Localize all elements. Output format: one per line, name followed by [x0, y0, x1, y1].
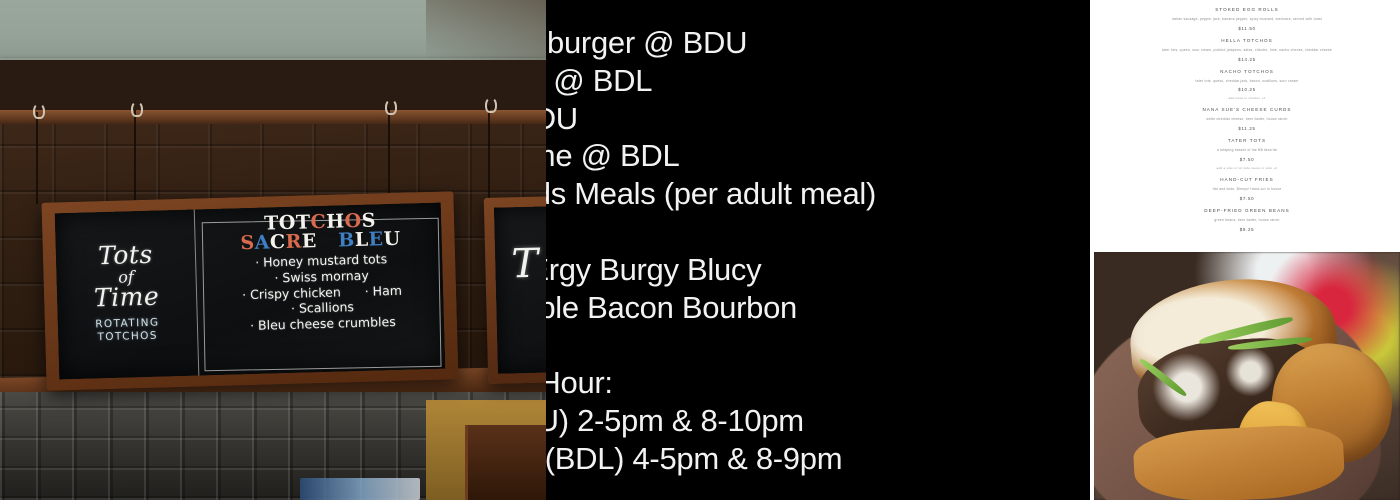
menu-sheet: STOKED EGG ROLLS italian sausage, pepper… [1094, 0, 1400, 246]
menu-item-description: italian sausage, pepper jack, banana pep… [1094, 17, 1400, 22]
menu-item-description: tater tots, queso, sour cream, pickled j… [1094, 48, 1400, 53]
chalkboard-surface: Tots of Time ROTATING TOTCHOS TOTCHOS SA… [55, 203, 445, 380]
chalk-item: · Ham [365, 282, 403, 298]
promo-line: Happy Hour: [546, 364, 1090, 402]
chalk-ingredient-list: · Honey mustard tots · Swiss mornay · Cr… [206, 250, 438, 335]
promo-line: gfellow (BDL) 4-5pm & 8-9pm [546, 440, 1090, 478]
hanging-wire [488, 106, 490, 198]
menu-item-name: DEEP-FRIED GREEN BEANS [1094, 208, 1400, 215]
promo-text-panel: Cheeseburger @ BDU Clucker @ BDL ia @ BD… [546, 0, 1090, 500]
menu-item-name: HELLA TOTCHOS [1094, 38, 1400, 45]
hanging-wire [134, 110, 136, 204]
promo-line: Cheeseburger @ BDU [546, 24, 1090, 62]
chalkboard-left-column: Tots of Time ROTATING TOTCHOS [55, 210, 200, 380]
menu-item-price: $14.25 [1094, 57, 1400, 62]
promo-line: als Game @ BDL [546, 137, 1090, 175]
menu-item-description: tater tots, queso, cheddar jack, bacon, … [1094, 79, 1400, 84]
chalk-subtitle: ROTATING TOTCHOS [95, 316, 160, 344]
menu-item-description: a heaping basket of the BB favorite [1094, 148, 1400, 153]
menu-item-note: add a side or tot side sauce or side +2 [1094, 166, 1400, 170]
hanging-wire [388, 108, 390, 200]
chalkboard-tots-of-time: Tots of Time ROTATING TOTCHOS TOTCHOS SA… [41, 191, 458, 390]
menu-item: HELLA TOTCHOS tater tots, queso, sour cr… [1094, 38, 1400, 62]
menu-item-description: flat and wide. Bleuys! Hand-cut in house [1094, 187, 1400, 192]
chalk-sacre-bleu-title: SACRE BLEU [240, 230, 401, 253]
hanging-wire [36, 112, 38, 204]
menu-item-note: add meat or chicken +2 [1094, 96, 1400, 100]
menu-item: NACHO TOTCHOS tater tots, queso, cheddar… [1094, 69, 1400, 101]
chalk-title-tots: Tots [98, 243, 153, 269]
menu-item-price: $7.50 [1094, 157, 1400, 162]
promo-line: BOM: Ergy Burgy Blucy [546, 251, 1090, 289]
menu-item-description: white cheddar cheese, beer batter, house… [1094, 117, 1400, 122]
promo-line: ia @ BDU [546, 100, 1090, 138]
tv-screen [300, 478, 420, 500]
promo-line: f Off Kids Meals (per adult meal) [546, 175, 1090, 213]
menu-item: STOKED EGG ROLLS italian sausage, pepper… [1094, 7, 1400, 31]
restaurant-interior-photo: Tots of Time ROTATING TOTCHOS TOTCHOS SA… [0, 0, 546, 500]
promo-line-spacer [546, 213, 1090, 251]
menu-item: TATER TOTS a heaping basket of the BB fa… [1094, 138, 1400, 170]
promo-text-block: Cheeseburger @ BDU Clucker @ BDL ia @ BD… [546, 0, 1090, 478]
menu-item-price: $11.50 [1094, 26, 1400, 31]
menu-item-description: green beans, beer batter, house ranch [1094, 218, 1400, 223]
menu-item: NANA SUE'S CHEESE CURDS white cheddar ch… [1094, 107, 1400, 131]
menu-item: DEEP-FRIED GREEN BEANS green beans, beer… [1094, 208, 1400, 232]
menu-item-price: $10.25 [1094, 87, 1400, 92]
chalkboard-secondary-surface [494, 204, 546, 373]
menu-item-name: NANA SUE'S CHEESE CURDS [1094, 107, 1400, 114]
menu-item-price: $7.50 [1094, 196, 1400, 201]
menu-item-name: TATER TOTS [1094, 138, 1400, 145]
menu-item-name: NACHO TOTCHOS [1094, 69, 1400, 76]
menu-item-price: $11.25 [1094, 126, 1400, 131]
chalk-subtitle-line2: TOTCHOS [95, 329, 160, 344]
wall-upper [0, 0, 546, 60]
menu-item-name: STOKED EGG ROLLS [1094, 7, 1400, 14]
chalkboard-right-column: TOTCHOS SACRE BLEU · Honey mustard tots … [195, 203, 446, 376]
menu-item: HAND-CUT FRIES flat and wide. Bleuys! Ha… [1094, 177, 1400, 201]
promo-line: WI: Maple Bacon Bourbon [546, 289, 1090, 327]
woodwork-right [465, 425, 546, 500]
menu-item-price: $9.25 [1094, 227, 1400, 232]
promo-line: Clucker @ BDL [546, 62, 1090, 100]
chalk-title-time: Time [94, 285, 160, 311]
menu-item-name: HAND-CUT FRIES [1094, 177, 1400, 184]
burger-photo [1094, 252, 1400, 500]
chalkboard-secondary [484, 194, 546, 384]
promo-line-spacer [546, 326, 1090, 364]
promo-line: no (BDU) 2-5pm & 8-10pm [546, 402, 1090, 440]
screenshot-collage: Tots of Time ROTATING TOTCHOS TOTCHOS SA… [0, 0, 1400, 500]
